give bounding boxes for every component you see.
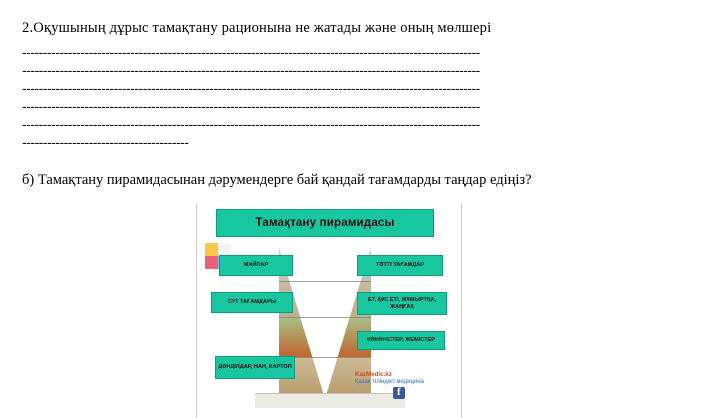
watermark-subtitle: Қазақ тіліндегі медицина	[355, 379, 424, 385]
label-grains-bread-potato: ДӘНДІЛДАР, НАН, КАРТОП	[215, 356, 295, 379]
figure-title: Тамақтану пирамидасы	[255, 217, 394, 229]
answer-rule-line: ----------------------------------------…	[22, 62, 700, 78]
figure-title-box: Тамақтану пирамидасы	[216, 209, 434, 237]
answer-rule-line: ----------------------------------------…	[22, 98, 700, 114]
watermark: KazMedic.kz Қазақ тіліндегі медицина	[355, 371, 424, 386]
pyramid-base-shelf	[255, 393, 405, 408]
food-pyramid-figure: Тамақтану пирамидасы МАЙЛАР ТӘТТІ ТАҒАМД…	[196, 203, 462, 418]
label-dairy: СҮТ ТАҒАМДАРЫ	[211, 292, 293, 313]
question-b-text: б) Тамақтану пирамидасынан дәрумендерге …	[22, 172, 712, 189]
label-fats: МАЙЛАР	[219, 255, 293, 276]
watermark-site: KazMedic.kz	[355, 371, 424, 379]
label-meat-poultry-eggs-nuts: ЕТ, ҚҰС ЕТІ, ЖҰМЫРТҚА, ЖАҢҒАҚ	[357, 292, 447, 315]
label-vegetables-fruits: КӨКӨНІСТЕР, ЖЕМІСТЕР	[357, 331, 445, 350]
question-2-text: 2.Оқушының дұрыс тамақтану рационына не …	[22, 20, 682, 37]
answer-rule-line: ----------------------------------------…	[22, 80, 700, 96]
facebook-icon	[393, 387, 405, 399]
answer-rule-line: ----------------------------------------…	[22, 44, 700, 60]
answer-rule-line: ----------------------------------------…	[22, 116, 700, 132]
label-sweets: ТӘТТІ ТАҒАМДАР	[357, 255, 443, 276]
answer-rule-line: ----------------------------------------	[22, 134, 272, 150]
document-page: 2.Оқушының дұрыс тамақтану рационына не …	[0, 0, 720, 418]
